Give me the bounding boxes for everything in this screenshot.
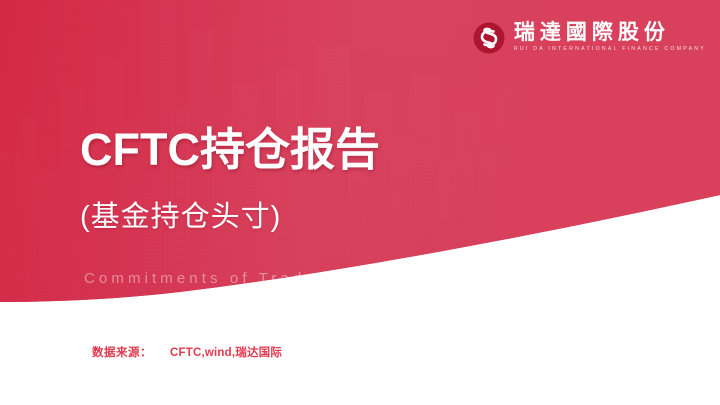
title-slide: 瑞達國際股份 RUI DA INTERNATIONAL FINANCE COMP…	[0, 0, 720, 405]
company-name-en: RUI DA INTERNATIONAL FINANCE COMPANY	[514, 46, 706, 54]
slide-subtitle: (基金持仓头寸)	[80, 202, 281, 234]
company-logo: 瑞達國際股份 RUI DA INTERNATIONAL FINANCE COMP…	[473, 22, 706, 54]
data-source-line: 数据来源： CFTC,wind,瑞达国际	[92, 344, 282, 360]
slide-title: CFTC持仓报告	[80, 126, 380, 173]
data-source-value: CFTC,wind,瑞达国际	[170, 344, 282, 360]
ruida-swirl-logo-icon	[473, 22, 505, 54]
slide-tagline-en: Commitments of Traders (COT) Reports	[84, 271, 498, 288]
logo-wordmark: 瑞達國際股份 RUI DA INTERNATIONAL FINANCE COMP…	[514, 22, 706, 54]
company-name-cn: 瑞達國際股份	[514, 22, 706, 44]
data-source-label: 数据来源：	[92, 344, 152, 360]
